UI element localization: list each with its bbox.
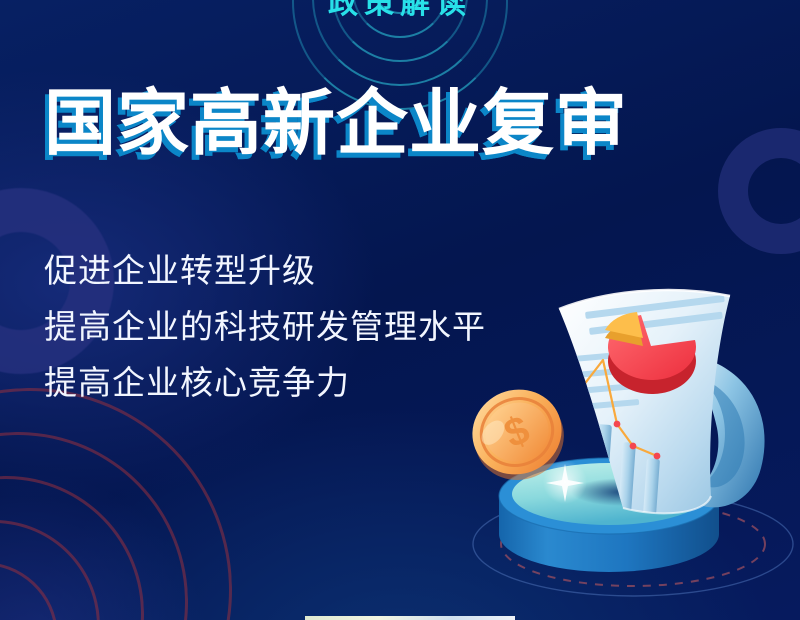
report-illustration: $	[455, 196, 800, 620]
benefit-line: 提高企业的科技研发管理水平	[44, 299, 486, 355]
top-banner-cutoff-text: 政策解读	[0, 0, 800, 22]
benefit-list: 促进企业转型升级 提高企业的科技研发管理水平 提高企业核心竞争力	[44, 243, 486, 411]
benefit-line: 促进企业转型升级	[44, 243, 486, 299]
benefit-line: 提高企业核心竞争力	[44, 355, 486, 411]
page-title: 国家高新企业复审	[44, 88, 628, 160]
poster-root: 政策解读 国家高新企业复审 促进企业转型升级 提高企业的科技研发管理水平 提高企…	[0, 0, 800, 620]
next-section-edge	[305, 616, 515, 620]
